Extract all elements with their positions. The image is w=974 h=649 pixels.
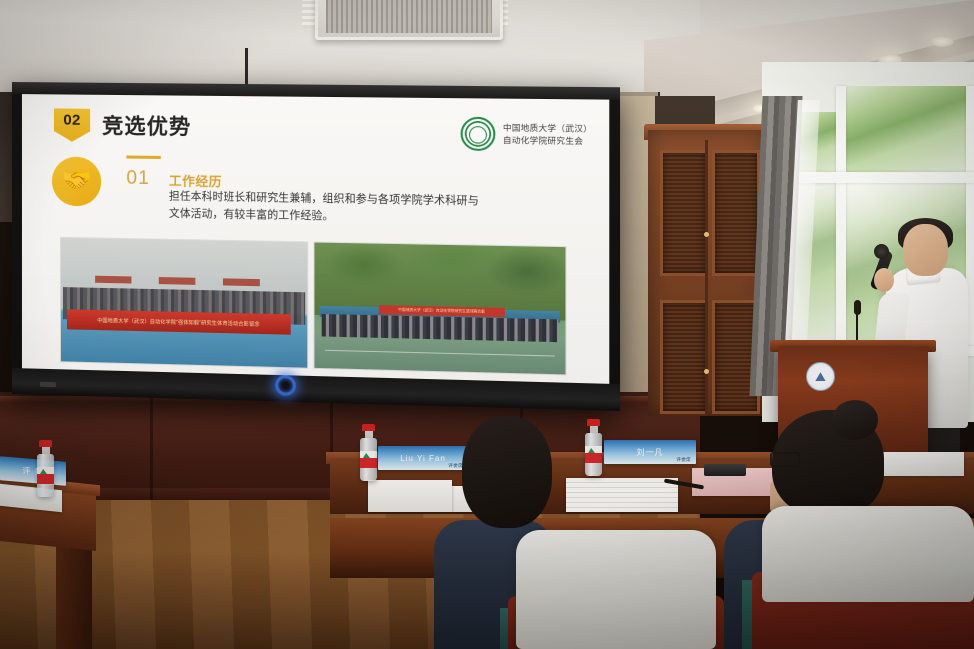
air-conditioning-vent-icon	[315, 0, 503, 40]
paper-sheet	[880, 452, 964, 476]
eyeglasses-icon	[770, 452, 800, 467]
smartphone-icon[interactable]	[704, 464, 746, 476]
bottle-cap	[362, 424, 375, 431]
slide-subheading: 工作经历	[169, 170, 222, 190]
paper-sheet	[368, 480, 452, 512]
name-placard-front-subtext: 评委席	[676, 457, 691, 463]
presenter-hand	[874, 268, 894, 292]
name-placard-front: 刘一凡 评委席	[604, 440, 696, 464]
notebook-page	[566, 478, 678, 512]
university-seal-icon	[461, 117, 496, 151]
podium-emblem-icon: ⛰	[815, 370, 826, 383]
logo-text-block: 中国地质大学（武汉） 自动化学院研究生会	[503, 122, 592, 148]
cabinet-knob-icon[interactable]	[704, 232, 709, 237]
display-screen[interactable]: 02 竞选优势 中国地质大学（武汉） 自动化学院研究生会 🤝 01 工作经历 担…	[22, 94, 609, 384]
slide-canvas: 02 竞选优势 中国地质大学（武汉） 自动化学院研究生会 🤝 01 工作经历 担…	[22, 94, 609, 384]
name-placard-front-text: 刘一凡	[637, 447, 664, 458]
bottle-label	[37, 467, 54, 484]
bottle-cap	[587, 419, 600, 426]
window-mullion-vertical	[836, 86, 846, 354]
cabinet-louver-panel	[660, 300, 708, 414]
name-placard-mid-text: Liu Yi Fan	[400, 454, 446, 463]
slide-photo-gymnasium: 中国地质大学（武汉）自动化学院“强体知毅”研究生体育活动合影留念	[60, 237, 308, 369]
slide-item-number: 01	[126, 168, 149, 191]
bottle-body	[585, 433, 602, 476]
downlight-icon	[930, 36, 954, 47]
cabinet-door-seam	[705, 140, 708, 416]
ceiling-cable	[245, 48, 248, 88]
slide-section-badge: 02	[54, 108, 90, 142]
presentation-display[interactable]: 02 竞选优势 中国地质大学（武汉） 自动化学院研究生会 🤝 01 工作经历 担…	[12, 82, 620, 411]
bottle-body	[360, 438, 377, 481]
organization-logo: 中国地质大学（武汉） 自动化学院研究生会	[461, 117, 592, 153]
conference-room-photo: 02 竞选优势 中国地质大学（武汉） 自动化学院研究生会 🤝 01 工作经历 担…	[0, 0, 974, 649]
accent-rule	[126, 156, 160, 159]
display-brand-mark	[40, 382, 56, 387]
bottle-body	[37, 454, 54, 497]
audience-hair-bun	[832, 400, 878, 440]
gym-wall-sign	[159, 277, 196, 285]
logo-line-1: 中国地质大学（武汉）	[503, 122, 592, 135]
bottle-neck	[590, 426, 598, 433]
slide-body-text: 担任本科时班长和研究生兼辅，组织和参与各项学院学术科研与文体活动，有较丰富的工作…	[169, 188, 480, 228]
wainscot-seam	[150, 396, 153, 506]
bottle-label	[585, 446, 602, 463]
bottle-neck	[365, 431, 373, 438]
water-bottle-icon[interactable]	[585, 419, 602, 476]
name-placard-mid-subtext: 评委席	[448, 463, 463, 469]
handshake-badge: 🤝	[52, 157, 101, 207]
name-placard-mid: Liu Yi Fan 评委席	[378, 446, 468, 470]
audience-head-left	[462, 416, 552, 528]
podium-emblem: ⛰	[806, 362, 835, 391]
cabinet-louver-panel	[660, 150, 708, 276]
cabinet-louver-panel	[712, 150, 760, 276]
outdoor-banner-text: 中国地质大学（武汉）自动化学院研究生篮球赛合影	[398, 308, 485, 315]
slide-photo-outdoor: 中国地质大学（武汉）自动化学院研究生篮球赛合影	[313, 242, 566, 376]
bottle-neck	[42, 447, 50, 454]
water-bottle-icon[interactable]	[37, 440, 54, 497]
handshake-icon: 🤝	[62, 168, 92, 193]
bottle-label	[360, 451, 377, 468]
power-led-indicator[interactable]	[275, 375, 296, 396]
microphone-icon	[854, 300, 861, 315]
gym-banner-text: 中国地质大学（武汉）自动化学院“强体知毅”研究生体育活动合影留念	[97, 317, 259, 328]
bottle-cap	[39, 440, 52, 447]
cabinet-knob-icon[interactable]	[704, 369, 709, 374]
gym-wall-sign	[95, 276, 131, 284]
gym-wall-sign	[223, 278, 260, 286]
chair-cover-right	[762, 506, 974, 602]
slide-title: 竞选优势	[102, 110, 191, 141]
chair-cover-left	[516, 530, 716, 649]
presenter-head	[903, 224, 948, 276]
window-pane-upper-right	[844, 86, 972, 174]
logo-line-2: 自动化学院研究生会	[503, 134, 592, 147]
slide-photo-row: 中国地质大学（武汉）自动化学院“强体知毅”研究生体育活动合影留念 中国地质大学（…	[60, 237, 567, 374]
water-bottle-icon[interactable]	[360, 424, 377, 481]
